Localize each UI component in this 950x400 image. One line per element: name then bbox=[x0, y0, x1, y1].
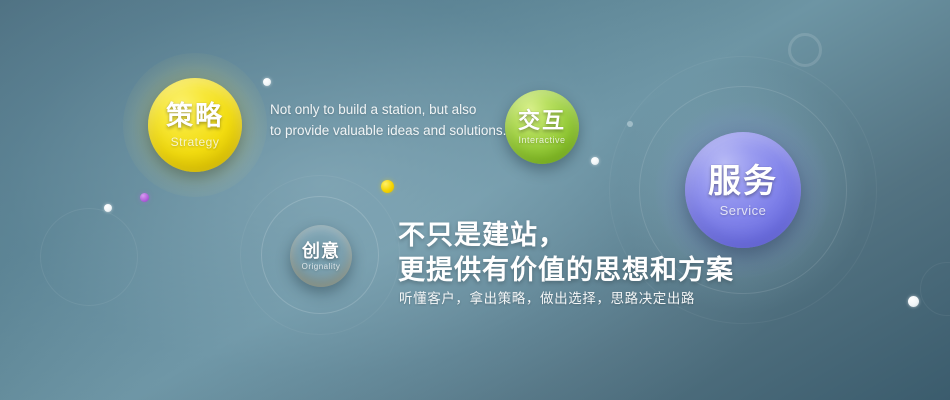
sphere-strategy-cn: 策略 bbox=[166, 103, 224, 130]
sphere-interactive[interactable]: 交互 Interactive bbox=[505, 90, 579, 164]
dot-purple-left bbox=[140, 193, 149, 202]
tagline-english-line2: to provide valuable ideas and solutions. bbox=[270, 121, 510, 142]
headline-line2: 更提供有价值的思想和方案 bbox=[398, 253, 734, 288]
hero-banner: 策略 Strategy 交互 Interactive 创意 Orignality… bbox=[0, 0, 950, 400]
headline-line1: 不只是建站， bbox=[398, 218, 734, 253]
dot-faint-right bbox=[627, 121, 633, 127]
sphere-service-en: Service bbox=[720, 204, 767, 217]
dot-white-right bbox=[908, 296, 919, 307]
tagline-english: Not only to build a station, but also to… bbox=[270, 100, 510, 141]
tagline-english-line1: Not only to build a station, but also bbox=[270, 100, 510, 121]
decor-ring-top-right bbox=[788, 33, 822, 67]
decor-ring-right-edge bbox=[920, 262, 950, 316]
sphere-originality-cn: 创意 bbox=[302, 242, 340, 260]
subheadline: 听懂客户，拿出策略，做出选择，思路决定出路 bbox=[399, 287, 695, 307]
decor-ring-bottom-left bbox=[40, 208, 138, 306]
sphere-interactive-en: Interactive bbox=[518, 136, 565, 145]
dot-white-top bbox=[263, 78, 271, 86]
sphere-interactive-cn: 交互 bbox=[518, 110, 566, 132]
sphere-strategy-en: Strategy bbox=[171, 136, 220, 148]
sphere-originality-en: Orignality bbox=[302, 263, 341, 271]
dot-yellow-mid bbox=[381, 180, 394, 193]
sphere-strategy[interactable]: 策略 Strategy bbox=[148, 78, 242, 172]
dot-white-left bbox=[104, 204, 112, 212]
dot-white-mid bbox=[591, 157, 599, 165]
headline: 不只是建站， 更提供有价值的思想和方案 bbox=[398, 218, 734, 288]
sphere-service-cn: 服务 bbox=[708, 164, 778, 197]
sphere-originality[interactable]: 创意 Orignality bbox=[290, 225, 352, 287]
